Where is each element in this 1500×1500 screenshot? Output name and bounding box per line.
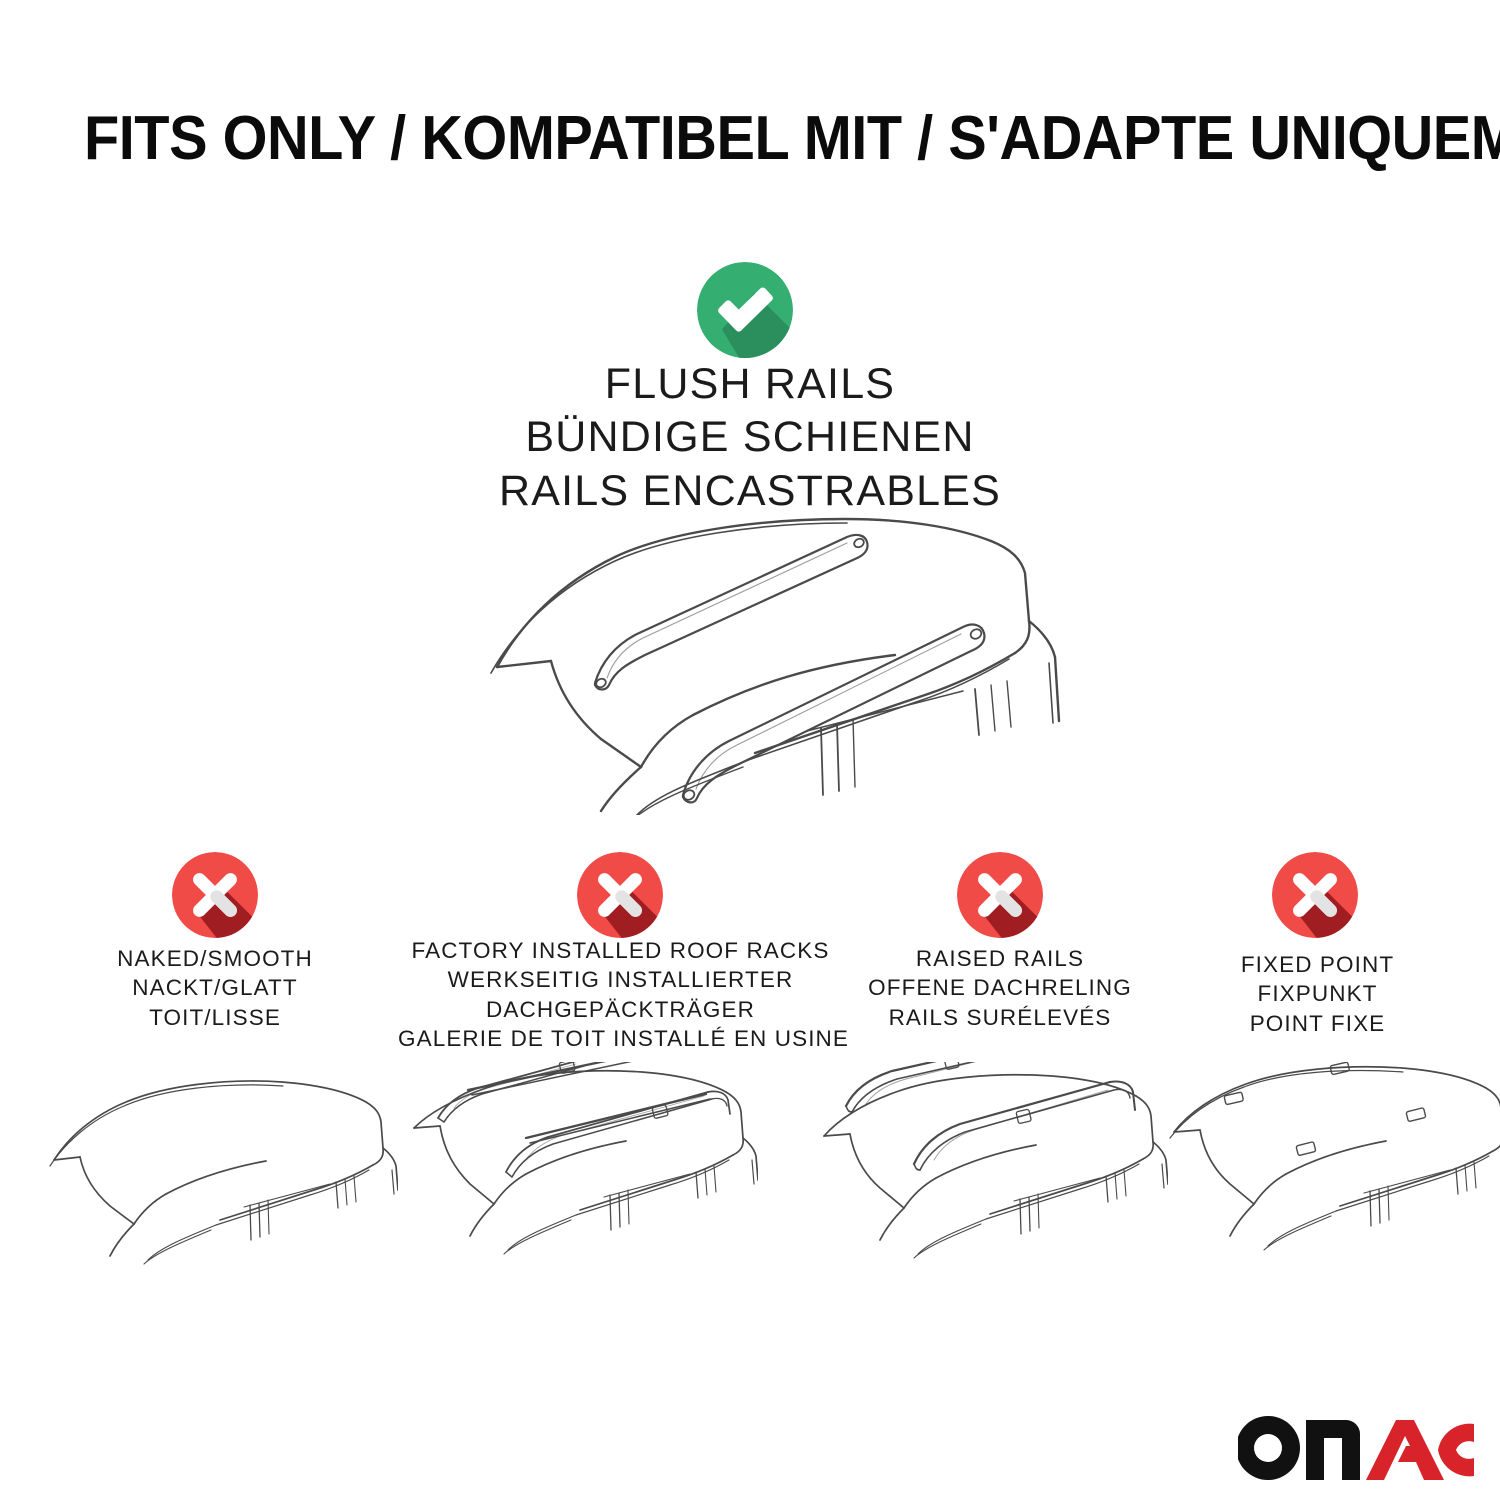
x-circle-icon [577,852,663,938]
label-line: FIXPUNKT [1180,979,1455,1008]
incompatible-label-naked-smooth: NAKED/SMOOTH NACKT/GLATT TOIT/LISSE [45,944,385,1032]
incompatible-label-factory-roof-racks: FACTORY INSTALLED ROOF RACKS WERKSEITIG … [398,936,843,1053]
x-circle-icon [1272,852,1358,938]
label-line: RAISED RAILS [845,944,1155,973]
label-line: FACTORY INSTALLED ROOF RACKS [398,936,843,965]
car-roof-raised-rails-illustration [818,1062,1168,1277]
car-roof-factory-rack-illustration [408,1062,758,1277]
omac-logo [1238,1412,1474,1484]
label-line: NACKT/GLATT [45,973,385,1002]
x-circle-icon [172,852,258,938]
x-circle-icon [957,852,1043,938]
label-line: OFFENE DACHRELING [845,973,1155,1002]
label-line: TOIT/LISSE [45,1003,385,1032]
incompatible-label-fixed-point: FIXED POINT FIXPUNKT POINT FIXE [1180,950,1455,1038]
label-line: WERKSEITIG INSTALLIERTER [398,965,843,994]
car-roof-fixed-point-illustration [1168,1062,1500,1277]
label-line: NAKED/SMOOTH [45,944,385,973]
label-line: GALERIE DE TOIT INSTALLÉ EN USINE [398,1024,843,1053]
compatibility-infographic: FITS ONLY / KOMPATIBEL MIT / S'ADAPTE UN… [0,0,1500,1500]
compatible-heading-line: BÜNDIGE SCHIENEN [300,411,1200,464]
page-title: FITS ONLY / KOMPATIBEL MIT / S'ADAPTE UN… [84,108,1330,170]
car-roof-flush-rails-illustration [455,495,1075,815]
compatible-heading-line: FLUSH RAILS [300,358,1200,411]
incompatible-label-raised-rails: RAISED RAILS OFFENE DACHRELING RAILS SUR… [845,944,1155,1032]
label-line: POINT FIXE [1180,1009,1455,1038]
label-line: RAILS SURÉLEVÉS [845,1003,1155,1032]
label-line: FIXED POINT [1180,950,1455,979]
car-roof-naked-illustration [48,1062,398,1277]
compatible-heading: FLUSH RAILS BÜNDIGE SCHIENEN RAILS ENCAS… [300,358,1200,518]
label-line: DACHGEPÄCKTRÄGER [398,995,843,1024]
check-circle-icon [697,262,793,358]
